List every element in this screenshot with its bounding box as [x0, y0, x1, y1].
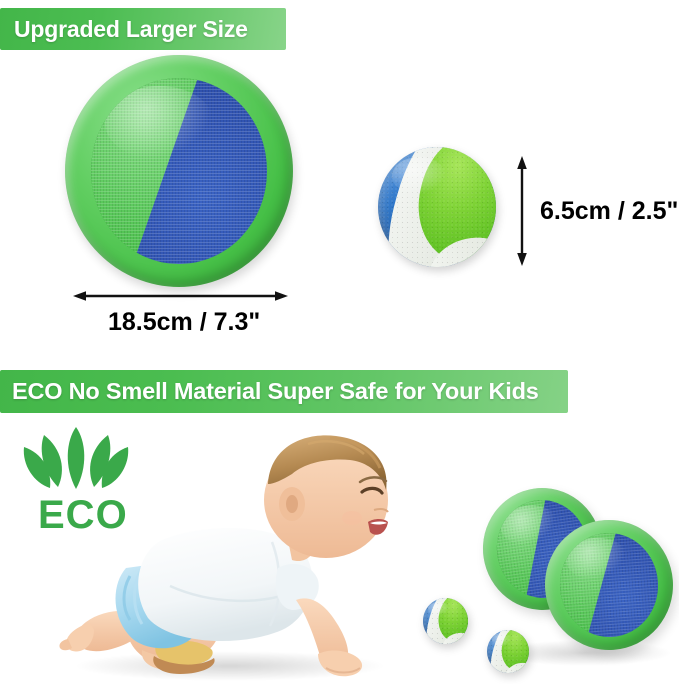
ball-height-arrow — [514, 156, 530, 266]
product-infographic: Upgraded Larger Size 18.5cm / 7.3" — [0, 0, 679, 684]
ball-height-label: 6.5cm / 2.5" — [540, 197, 678, 226]
paddle-front-face — [556, 530, 662, 641]
ball-highlight — [392, 157, 446, 195]
banner-eco-no-smell: ECO No Smell Material Super Safe for You… — [0, 370, 568, 413]
banner-size-text: Upgraded Larger Size — [14, 16, 248, 43]
ball-product-image — [378, 147, 496, 267]
paddle-highlight — [105, 86, 214, 160]
ball-body — [378, 147, 496, 267]
paddle-face — [91, 78, 267, 264]
baby-cheek — [342, 511, 362, 525]
banner-eco-text: ECO No Smell Material Super Safe for You… — [12, 378, 539, 405]
baby-mouth — [368, 519, 388, 535]
paddle-product-image — [65, 55, 293, 287]
ball-small-left — [423, 598, 468, 644]
product-set-image — [400, 480, 679, 684]
banner-upgraded-larger-size: Upgraded Larger Size — [0, 8, 286, 50]
ball-small-right — [487, 630, 529, 673]
paddle-width-arrow — [73, 290, 288, 302]
paddle-front — [541, 516, 678, 655]
crawling-baby-photo — [30, 418, 402, 684]
paddle-width-label: 18.5cm / 7.3" — [108, 308, 260, 337]
ball-small-right-body — [487, 630, 529, 673]
ball-small-left-body — [423, 598, 468, 644]
